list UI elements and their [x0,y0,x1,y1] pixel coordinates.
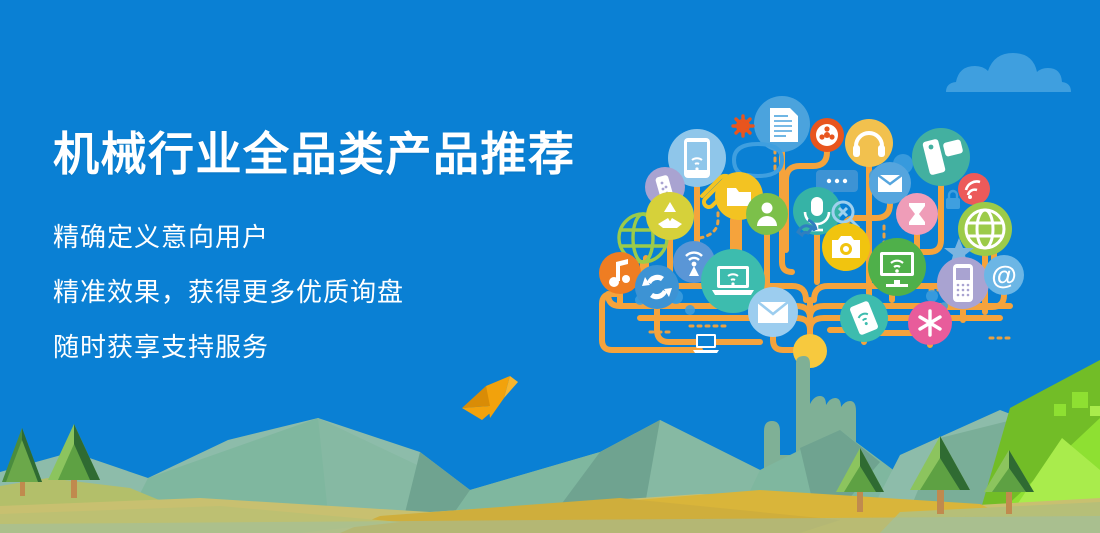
envelope-icon [878,175,902,192]
document-icon [770,108,798,142]
subtitle-list: 精确定义意向用户 精准效果，获得更多优质询盘 随时获享支持服务 [53,224,593,360]
smartphone-wifi-icon [684,138,710,178]
mobile-phone-icon [953,264,973,302]
laptop-wifi-icon [712,266,754,295]
small-laptop-icon [693,334,719,353]
page-title: 机械行业全品类产品推荐 [53,126,593,184]
film-reel-icon [816,124,838,146]
at-sign-glyph: @ [991,260,1016,290]
gear-icon [733,116,753,136]
text-block: 机械行业全品类产品推荐 精确定义意向用户 精准效果，获得更多优质询盘 随时获享支… [53,126,593,360]
subtitle-line-1: 精确定义意向用户 [53,224,593,250]
promo-banner: @ [0,0,1100,533]
subtitle-line-3: 随时获享支持服务 [53,334,593,360]
subtitle-line-2: 精准效果，获得更多优质询盘 [53,279,593,305]
mail-icon [758,302,788,323]
